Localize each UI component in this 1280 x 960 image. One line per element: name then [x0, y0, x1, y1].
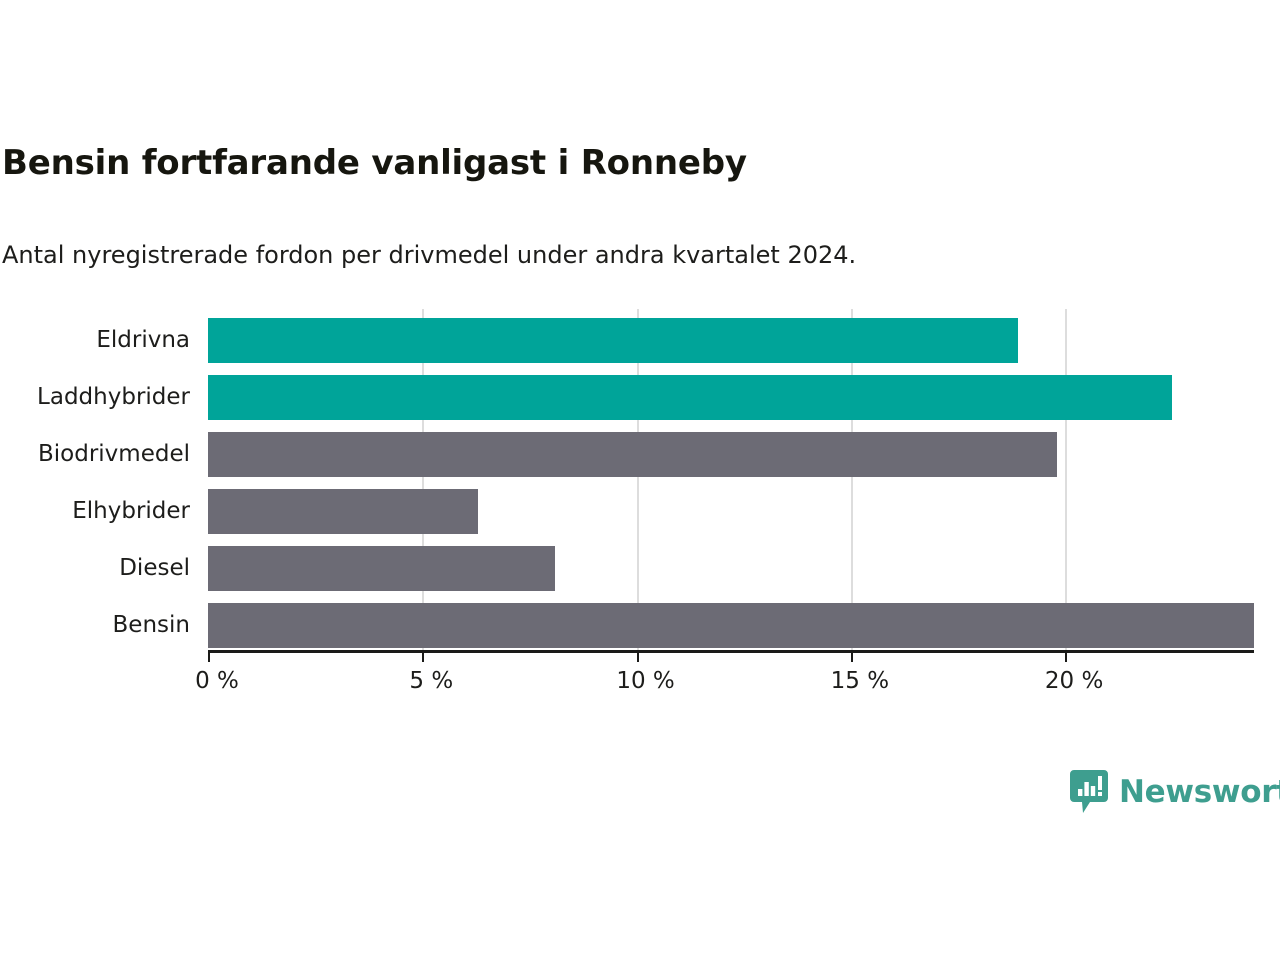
page-title: Bensin fortfarande vanligast i Ronneby — [2, 143, 747, 183]
newsworthy-logo[interactable]: Newsworthy — [1070, 770, 1280, 814]
x-tick — [1065, 651, 1067, 662]
chart-subtitle: Antal nyregistrerade fordon per drivmede… — [2, 241, 856, 269]
chart-page: Bensin fortfarande vanligast i Ronneby A… — [0, 0, 1280, 960]
bar-row — [208, 603, 1252, 648]
x-tick-label: 20 % — [1045, 668, 1103, 694]
y-axis-label-eldrivna: Eldrivna — [96, 318, 190, 363]
bar-eldrivna[interactable] — [208, 318, 1018, 363]
x-tick-label: 0 % — [195, 668, 239, 694]
y-axis-label-diesel: Diesel — [119, 546, 190, 591]
y-axis-label-laddhybrider: Laddhybrider — [37, 375, 190, 420]
y-axis-label-bensin: Bensin — [113, 603, 190, 648]
newsworthy-wordmark: Newsworthy — [1119, 774, 1280, 810]
bars-group — [208, 309, 1252, 651]
y-axis-label-biodrivmedel: Biodrivmedel — [38, 432, 190, 477]
bar-row — [208, 489, 1252, 534]
x-tick — [851, 651, 853, 662]
bar-row — [208, 432, 1252, 477]
x-tick — [208, 651, 210, 662]
x-tick — [637, 651, 639, 662]
x-axis-line — [208, 650, 1254, 653]
plot-area — [208, 309, 1252, 651]
bar-row — [208, 318, 1252, 363]
x-tick — [422, 651, 424, 662]
x-tick-label: 15 % — [831, 668, 889, 694]
x-tick-label: 5 % — [409, 668, 453, 694]
bar-row — [208, 375, 1252, 420]
bar-bensin[interactable] — [208, 603, 1254, 648]
bar-biodrivmedel[interactable] — [208, 432, 1057, 477]
bar-diesel[interactable] — [208, 546, 555, 591]
y-axis-label-elhybrider: Elhybrider — [72, 489, 190, 534]
bar-laddhybrider[interactable] — [208, 375, 1172, 420]
bar-row — [208, 546, 1252, 591]
x-tick-label: 10 % — [616, 668, 674, 694]
bar-elhybrider[interactable] — [208, 489, 478, 534]
speech-bubble-bar-chart-icon — [1070, 770, 1108, 814]
